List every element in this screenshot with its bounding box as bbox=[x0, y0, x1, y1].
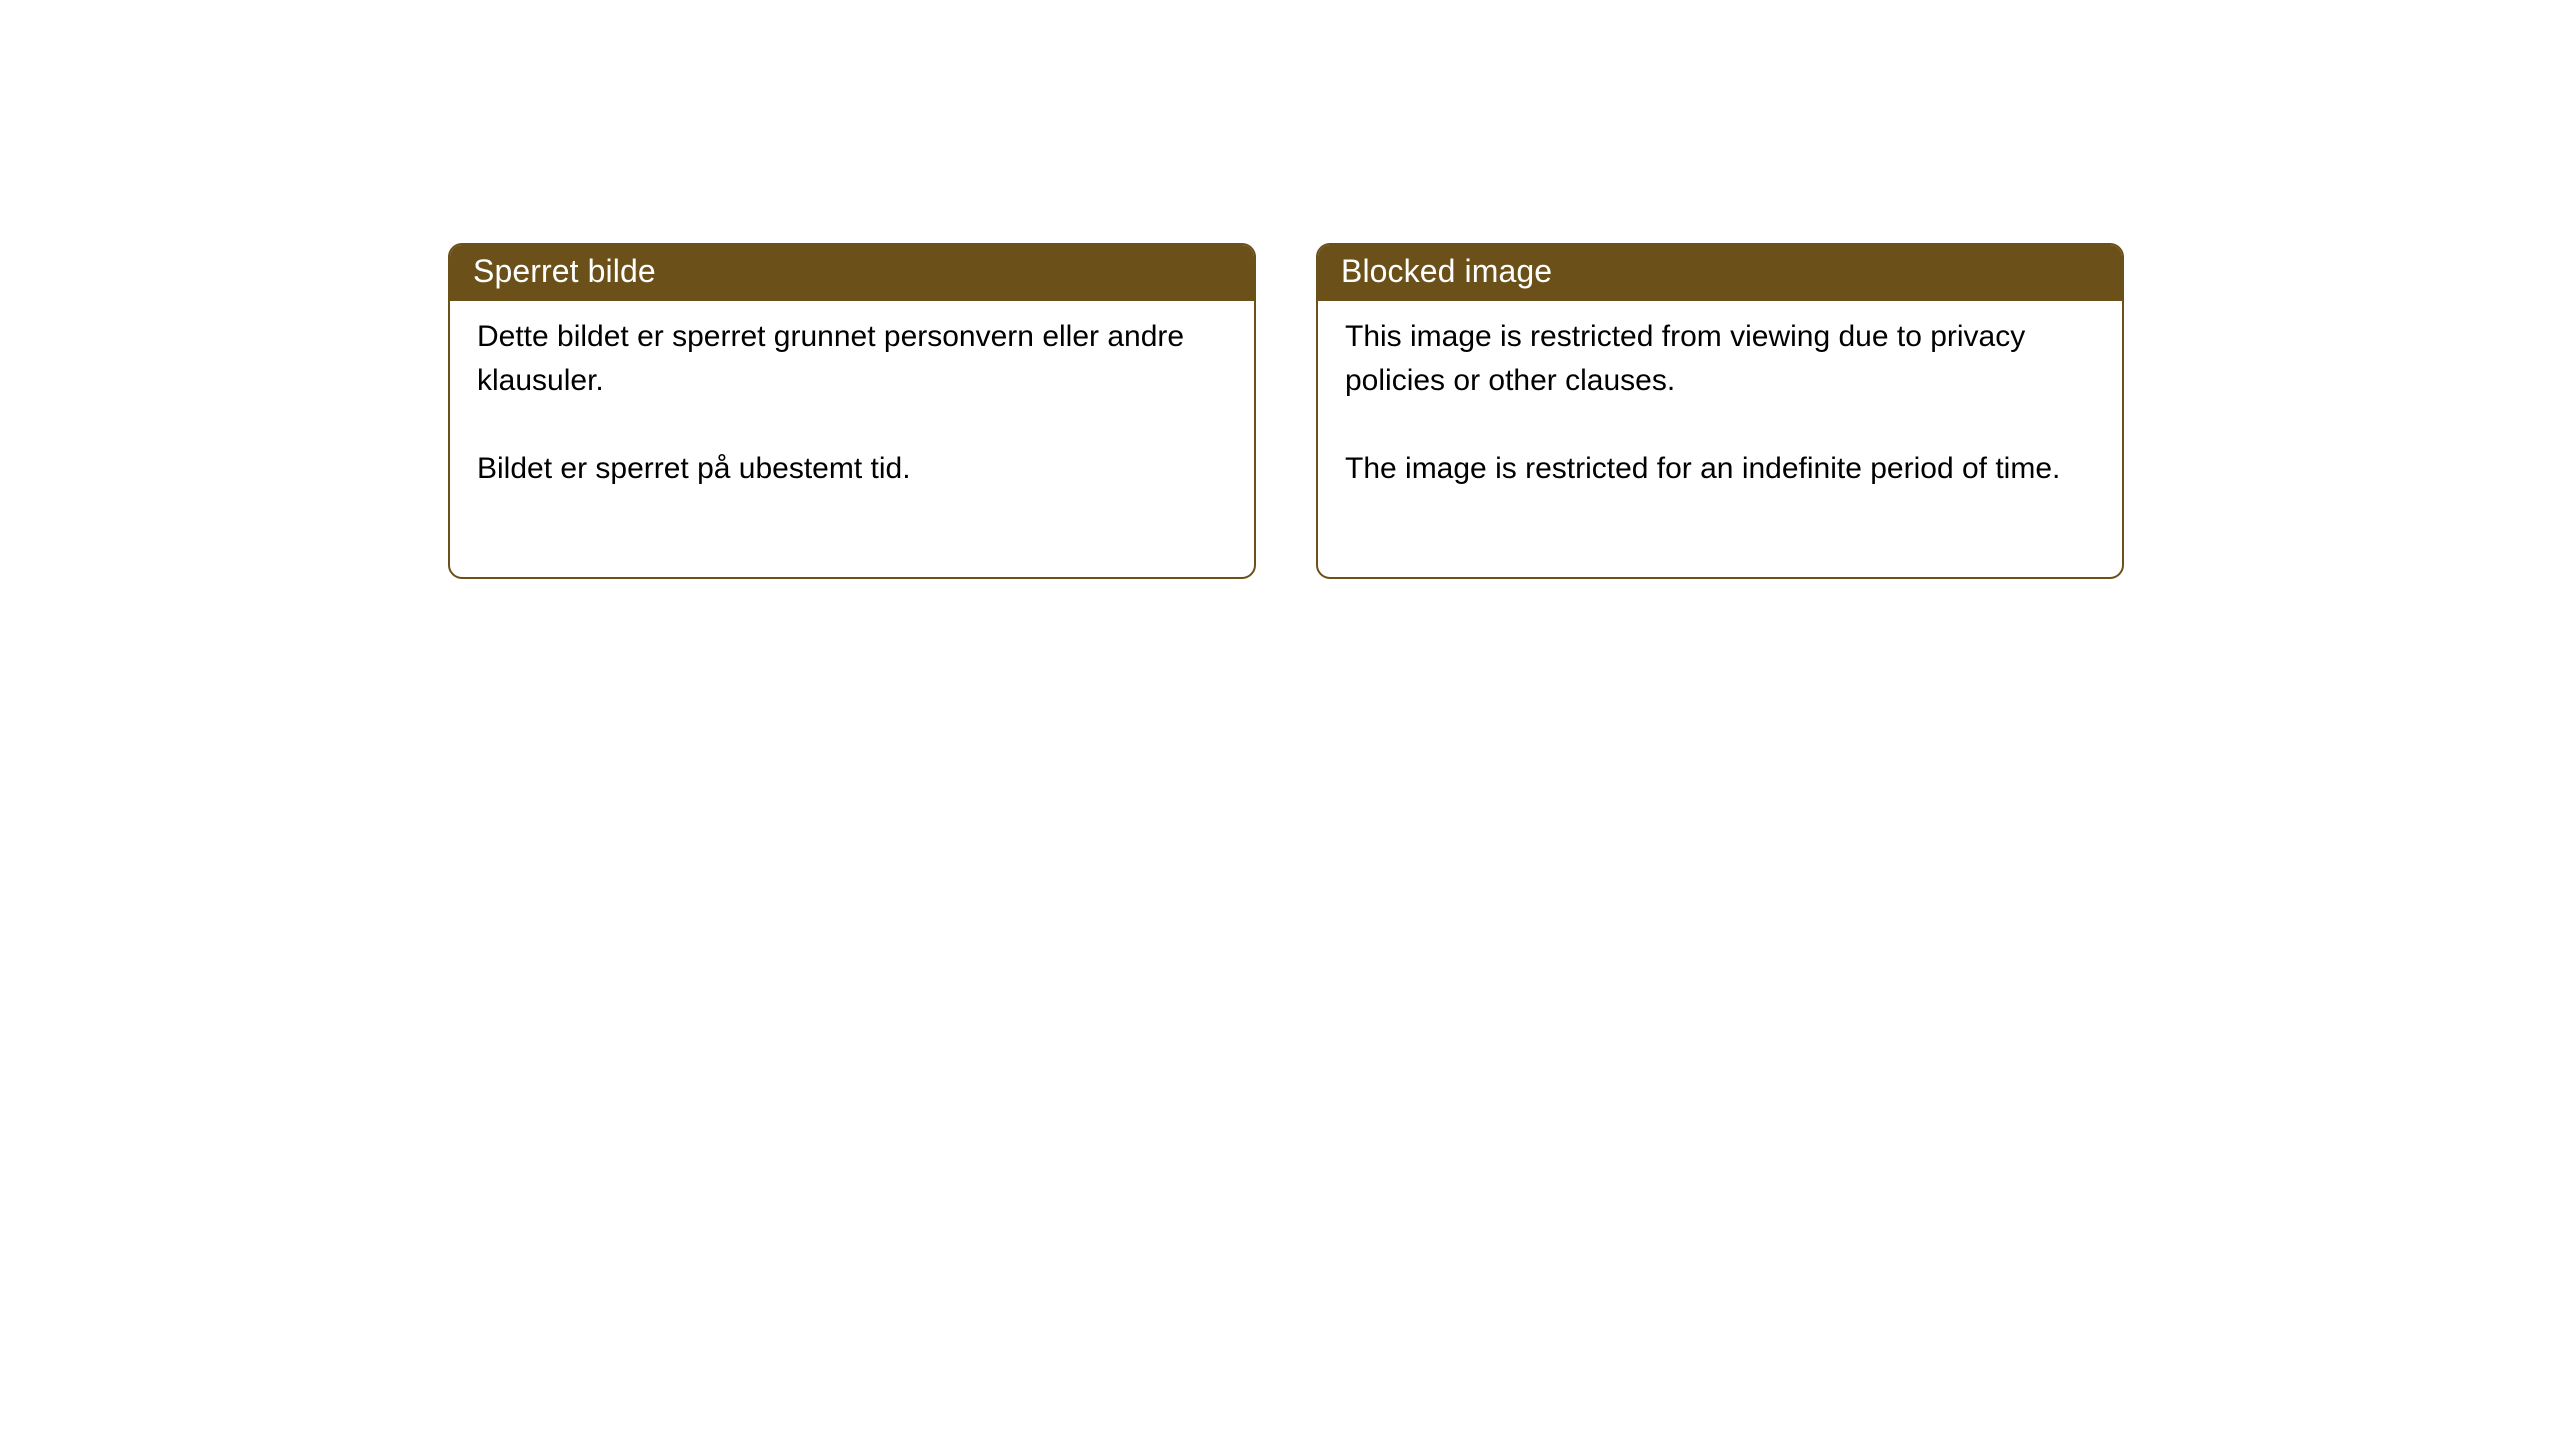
blocked-image-card-english: Blocked image This image is restricted f… bbox=[1316, 243, 2124, 579]
card-paragraph-secondary-norwegian: Bildet er sperret på ubestemt tid. bbox=[477, 447, 1212, 491]
card-paragraph-secondary-english: The image is restricted for an indefinit… bbox=[1345, 447, 2080, 491]
card-title-norwegian: Sperret bilde bbox=[473, 255, 656, 287]
card-paragraph-primary-english: This image is restricted from viewing du… bbox=[1345, 315, 2080, 403]
card-header-norwegian: Sperret bilde bbox=[448, 243, 1256, 301]
page-canvas: Sperret bilde Dette bildet er sperret gr… bbox=[0, 0, 2560, 1440]
paragraph-spacer bbox=[1345, 403, 2100, 447]
card-body-english: This image is restricted from viewing du… bbox=[1318, 301, 2122, 491]
paragraph-spacer bbox=[477, 403, 1232, 447]
card-header-english: Blocked image bbox=[1316, 243, 2124, 301]
card-body-norwegian: Dette bildet er sperret grunnet personve… bbox=[450, 301, 1254, 491]
card-title-english: Blocked image bbox=[1341, 255, 1552, 287]
blocked-image-card-norwegian: Sperret bilde Dette bildet er sperret gr… bbox=[448, 243, 1256, 579]
card-paragraph-primary-norwegian: Dette bildet er sperret grunnet personve… bbox=[477, 315, 1212, 403]
